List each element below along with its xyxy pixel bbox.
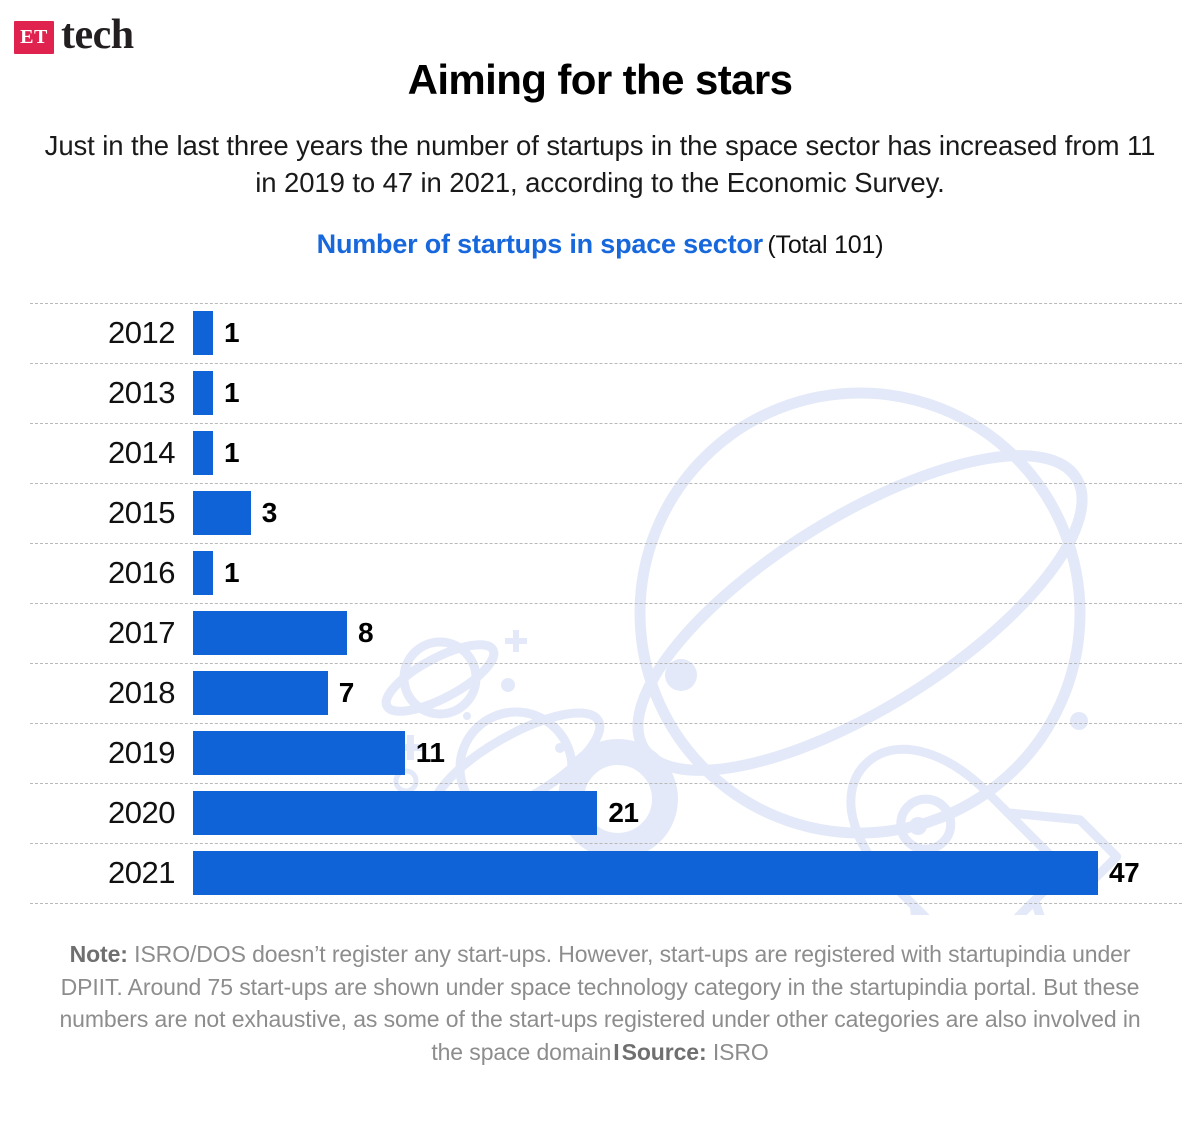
chart-row: 202021 (0, 783, 1200, 843)
chart-row: 201911 (0, 723, 1200, 783)
bar-value-label: 11 (416, 737, 445, 769)
bar-category-label: 2015 (0, 495, 175, 531)
bar-category-label: 2014 (0, 435, 175, 471)
bar-category-label: 2019 (0, 735, 175, 771)
bar-value-label: 21 (608, 797, 638, 829)
bar-track: 11 (193, 723, 444, 783)
bar-value-label: 1 (224, 437, 239, 469)
bar-track: 1 (193, 543, 239, 603)
bar (193, 371, 213, 415)
bar (193, 431, 213, 475)
bar-track: 8 (193, 603, 373, 663)
chart-row: 20153 (0, 483, 1200, 543)
bar-value-label: 7 (339, 677, 354, 709)
et-logo-word: tech (61, 14, 134, 56)
bar-chart: 2012120131201412015320161201782018720191… (0, 303, 1200, 915)
bar-track: 1 (193, 363, 239, 423)
bar-track: 21 (193, 783, 639, 843)
chart-row: 20178 (0, 603, 1200, 663)
bar-category-label: 2021 (0, 855, 175, 891)
ettech-logo: ET tech (14, 17, 134, 57)
bar-value-label: 8 (358, 617, 373, 649)
note-body: ISRO/DOS doesn’t register any start-ups.… (59, 941, 1140, 1065)
bar-category-label: 2012 (0, 315, 175, 351)
bar-track: 3 (193, 483, 277, 543)
chart-row: 20161 (0, 543, 1200, 603)
page-title: Aiming for the stars (0, 58, 1200, 102)
chart-row: 20131 (0, 363, 1200, 423)
bar-track: 1 (193, 303, 239, 363)
note-label: Note: (70, 941, 128, 967)
chart-title: Number of startups in space sector (Tota… (0, 230, 1200, 260)
bar (193, 731, 405, 775)
chart-row: 20187 (0, 663, 1200, 723)
bar (193, 791, 597, 835)
bar-category-label: 2013 (0, 375, 175, 411)
bar-value-label: 1 (224, 317, 239, 349)
bar (193, 671, 328, 715)
bar-category-label: 2016 (0, 555, 175, 591)
chart-row: 202147 (0, 843, 1200, 903)
footer-note: Note: ISRO/DOS doesn’t register any star… (50, 938, 1150, 1069)
chart-row: 20141 (0, 423, 1200, 483)
chart-title-total: (Total 101) (767, 231, 883, 259)
chart-title-main: Number of startups in space sector (317, 229, 763, 259)
bar-value-label: 47 (1109, 857, 1139, 889)
bar-value-label: 3 (262, 497, 277, 529)
chart-rows: 2012120131201412015320161201782018720191… (0, 303, 1200, 915)
bar (193, 551, 213, 595)
chart-row: 20121 (0, 303, 1200, 363)
bar (193, 851, 1098, 895)
note-separator: I (611, 1039, 621, 1065)
bar (193, 491, 251, 535)
bar-value-label: 1 (224, 377, 239, 409)
source-value: ISRO (713, 1039, 769, 1065)
bar-value-label: 1 (224, 557, 239, 589)
bar (193, 611, 347, 655)
bar-track: 7 (193, 663, 354, 723)
bar-category-label: 2017 (0, 615, 175, 651)
et-logo-mark: ET (14, 21, 54, 54)
bar (193, 311, 213, 355)
infographic-page: ET tech Aiming for the stars Just in the… (0, 0, 1200, 1125)
bar-track: 1 (193, 423, 239, 483)
source-label: Source: (622, 1039, 707, 1065)
page-subtitle: Just in the last three years the number … (40, 128, 1160, 201)
bar-category-label: 2018 (0, 675, 175, 711)
bar-track: 47 (193, 843, 1139, 903)
bar-category-label: 2020 (0, 795, 175, 831)
et-logo-mark-text: ET (20, 27, 48, 47)
